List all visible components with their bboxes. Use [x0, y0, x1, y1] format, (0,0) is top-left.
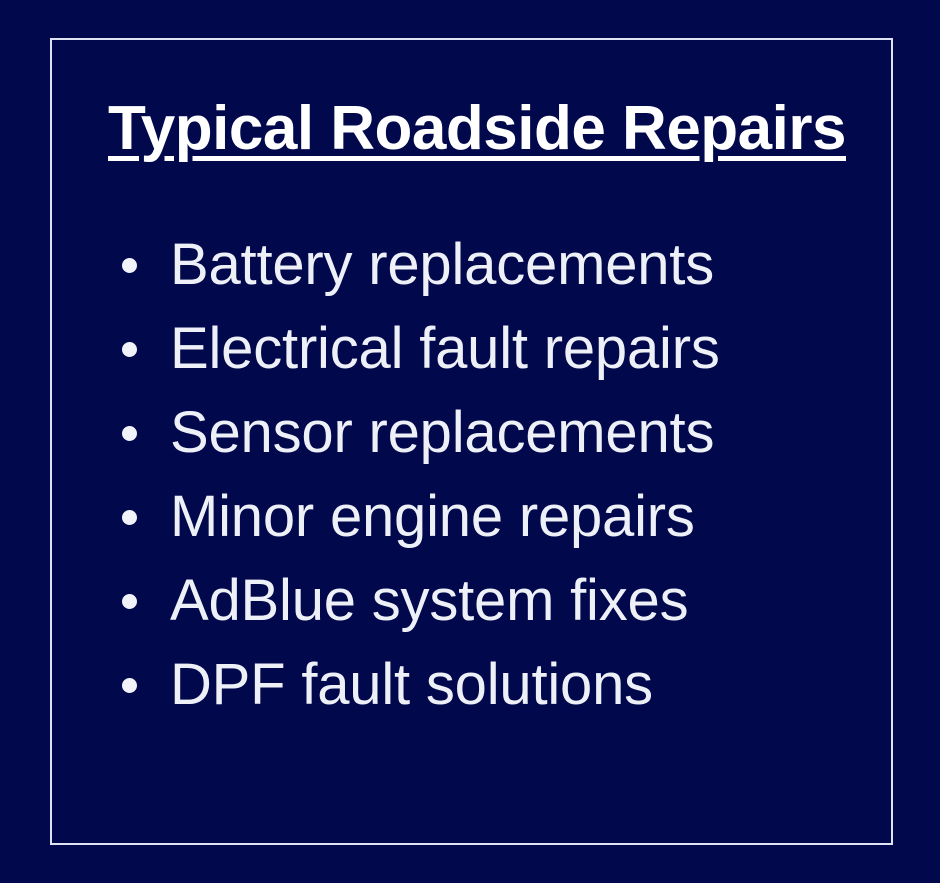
card-content: Typical Roadside Repairs Battery replace…	[108, 96, 848, 727]
bullet-dot-icon	[122, 258, 137, 273]
list-item: Minor engine repairs	[108, 475, 848, 559]
repairs-list: Battery replacements Electrical fault re…	[108, 223, 848, 727]
list-item: AdBlue system fixes	[108, 559, 848, 643]
list-item: DPF fault solutions	[108, 643, 848, 727]
bullet-dot-icon	[122, 342, 137, 357]
bullet-dot-icon	[122, 678, 137, 693]
roadside-repairs-card: Typical Roadside Repairs Battery replace…	[0, 0, 940, 883]
list-item-label: Sensor replacements	[170, 400, 714, 465]
bullet-dot-icon	[122, 594, 137, 609]
list-item: Electrical fault repairs	[108, 307, 848, 391]
list-item-label: AdBlue system fixes	[170, 568, 688, 633]
list-item-label: DPF fault solutions	[170, 652, 653, 717]
bullet-dot-icon	[122, 510, 137, 525]
list-item-label: Minor engine repairs	[170, 484, 695, 549]
list-item: Sensor replacements	[108, 391, 848, 475]
bullet-dot-icon	[122, 426, 137, 441]
page-title: Typical Roadside Repairs	[108, 96, 846, 161]
list-item-label: Electrical fault repairs	[170, 316, 720, 381]
list-item-label: Battery replacements	[170, 232, 714, 297]
list-item: Battery replacements	[108, 223, 848, 307]
